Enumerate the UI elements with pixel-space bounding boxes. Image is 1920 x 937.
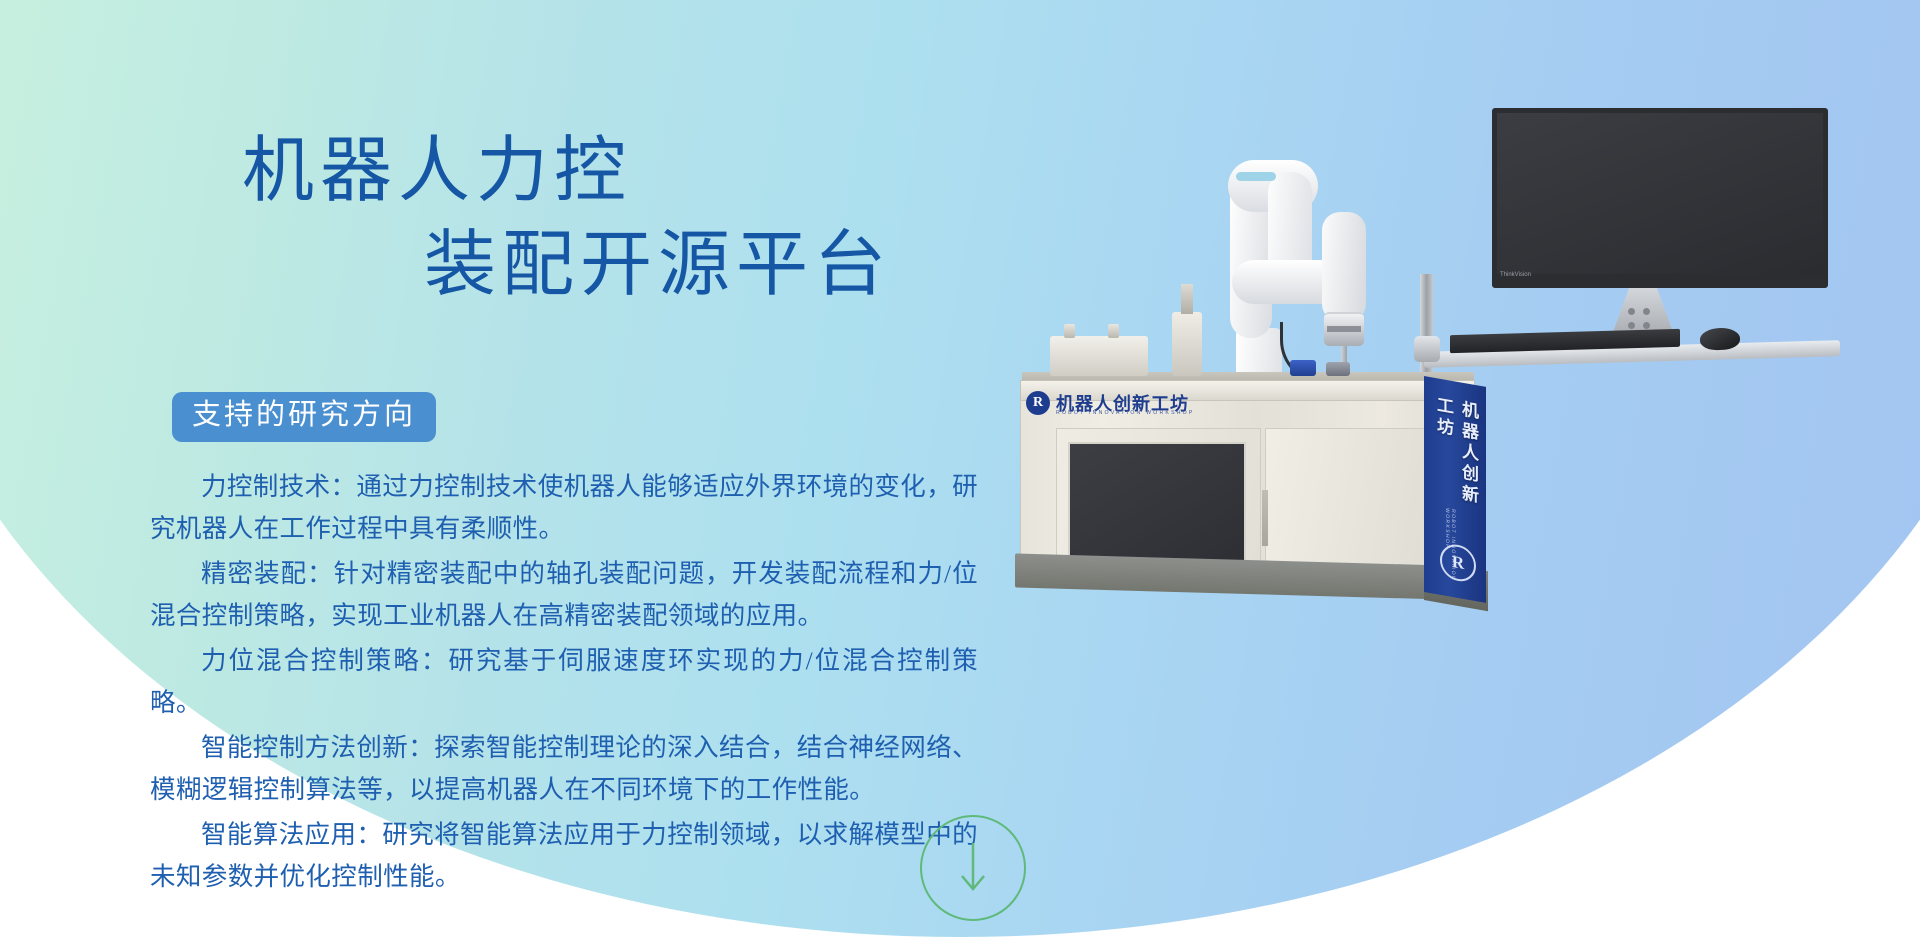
tool-holder-grey (1326, 362, 1350, 376)
cabinet-door-handle (1262, 490, 1268, 546)
list-item: 智能算法应用：研究将智能算法应用于力控制领域，以求解模型中的未知参数并优化控制性… (150, 814, 978, 898)
scroll-down-button[interactable] (920, 815, 1026, 921)
list-item: 精密装配：针对精密装配中的轴孔装配问题，开发装配流程和力/位混合控制策略，实现工… (150, 553, 978, 637)
page-title-line-2: 装配开源平台 (424, 222, 892, 310)
mouse (1700, 327, 1740, 350)
side-panel-branding: 机器人创新工坊 ROBOT INNOVATION WORKSHOP R (1430, 390, 1482, 599)
assembly-fixture-a (1050, 336, 1148, 376)
robot-workstation-image: ThinkVision R 机器人创新工坊 ROB (1000, 60, 1920, 820)
post-clamp (1414, 336, 1440, 362)
monitor-brand-label: ThinkVision (1500, 272, 1531, 278)
side-panel-name-cn: 机器人创新工坊 (1431, 394, 1481, 511)
list-item: 力控制技术：通过力控制技术使机器人能够适应外界环境的变化，研究机器人在工作过程中… (150, 466, 978, 550)
monitor-screen (1492, 108, 1828, 288)
list-item: 力位混合控制策略：研究基于伺服速度环实现的力/位混合控制策略。 (150, 640, 978, 724)
robot-arm-ring (1236, 172, 1276, 181)
list-item: 智能控制方法创新：探索智能控制理论的深入结合，结合神经网络、模糊逻辑控制算法等，… (150, 727, 978, 811)
section-badge-research-directions: 支持的研究方向 (172, 392, 436, 442)
hero-text-column: 机器人力控 装配开源平台 支持的研究方向 力控制技术：通过力控制技术使机器人能够… (0, 0, 1020, 937)
workshop-name-en: ROBOT INNOVATION WORKSHOP (1056, 410, 1195, 416)
tool-holder-blue (1290, 360, 1316, 376)
research-directions-list: 力控制技术：通过力控制技术使机器人能够适应外界环境的变化，研究机器人在工作过程中… (150, 466, 978, 901)
hero-banner: 机器人力控 装配开源平台 支持的研究方向 力控制技术：通过力控制技术使机器人能够… (0, 0, 1920, 937)
assembly-fixture-b (1172, 312, 1202, 376)
workshop-logo-icon: R (1026, 391, 1050, 415)
cabinet-logo: R 机器人创新工坊 ROBOT INNOVATION WORKSHOP (1026, 390, 1226, 418)
vesa-mount-holes (1628, 308, 1658, 332)
force-torque-sensor (1324, 312, 1364, 346)
page-title-line-1: 机器人力控 (242, 128, 632, 216)
arrow-down-icon (956, 839, 990, 897)
robot-arm-wrist (1322, 212, 1366, 322)
